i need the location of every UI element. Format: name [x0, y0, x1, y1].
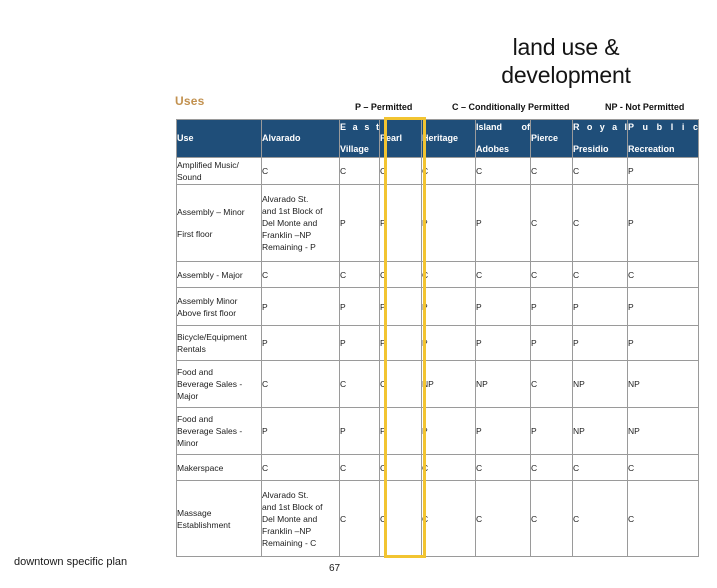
cell-island-of-adobes: C: [476, 158, 531, 185]
page-number: 67: [329, 563, 340, 574]
cell-east-village: P: [340, 326, 380, 361]
table-row[interactable]: Amplified Music/ Sound C C C C C C C P: [177, 158, 699, 185]
column-header-heritage[interactable]: Heritage: [422, 120, 476, 158]
page-title-line-2: development: [430, 61, 702, 89]
cell-heritage: C: [422, 481, 476, 557]
column-header-east-village[interactable]: E a s t Village: [340, 120, 380, 158]
page-title-line-1: land use &: [430, 33, 702, 61]
page-title: land use & development: [430, 33, 702, 89]
cell-use: Assembly - Major: [177, 262, 262, 288]
cell-pierce: C: [531, 262, 573, 288]
column-header-pearl-label: Pearl: [380, 133, 402, 143]
cell-use-line-3: Major: [177, 390, 261, 402]
uses-table-container: Use Alvarado E a s t Village Pearl Herit…: [176, 119, 698, 557]
cell-heritage: C: [422, 455, 476, 481]
column-header-island-of-adobes[interactable]: Island of Adobes: [476, 120, 531, 158]
cell-use-line-1: Assembly – Minor: [177, 206, 261, 218]
column-header-public-recreation-line-2: Recreation: [628, 144, 675, 154]
cell-alvarado: Alvarado St. and 1st Block of Del Monte …: [262, 185, 340, 262]
cell-use: Food and Beverage Sales - Minor: [177, 408, 262, 455]
cell-east-village: C: [340, 455, 380, 481]
cell-pierce: C: [531, 185, 573, 262]
cell-royal-presidio: C: [573, 185, 628, 262]
legend-item-permitted: P – Permitted: [355, 102, 412, 112]
cell-heritage: P: [422, 326, 476, 361]
cell-east-village: P: [340, 288, 380, 326]
cell-use: Bicycle/Equipment Rentals: [177, 326, 262, 361]
cell-pearl: C: [380, 262, 422, 288]
cell-royal-presidio: C: [573, 455, 628, 481]
cell-alvarado-line-1: Alvarado St.: [262, 489, 339, 501]
cell-use-line-3: Minor: [177, 437, 261, 449]
cell-alvarado-line-2: and 1st Block of: [262, 501, 339, 513]
cell-alvarado-line-4: Franklin –NP: [262, 229, 339, 241]
cell-use-line-2: Beverage Sales -: [177, 378, 261, 390]
cell-east-village: C: [340, 481, 380, 557]
cell-use-line-1: Food and: [177, 413, 261, 425]
column-header-royal-presidio[interactable]: R o y a l Presidio: [573, 120, 628, 158]
cell-heritage: P: [422, 408, 476, 455]
cell-alvarado-line-3: Del Monte and: [262, 513, 339, 525]
cell-public-recreation: NP: [628, 408, 699, 455]
cell-island-of-adobes: P: [476, 326, 531, 361]
column-header-island-of-adobes-line-1: Island of: [476, 122, 530, 144]
cell-use-line-2: First floor: [177, 228, 261, 240]
cell-royal-presidio: P: [573, 288, 628, 326]
table-row[interactable]: Food and Beverage Sales - Major C C C NP…: [177, 361, 699, 408]
cell-east-village: P: [340, 408, 380, 455]
cell-pierce: P: [531, 408, 573, 455]
footer-label: downtown specific plan: [14, 556, 127, 568]
column-header-public-recreation[interactable]: P u b l i c Recreation: [628, 120, 699, 158]
table-row[interactable]: Massage Establishment Alvarado St. and 1…: [177, 481, 699, 557]
cell-use-line-1: Food and: [177, 366, 261, 378]
cell-use-line-1: Assembly - Major: [177, 269, 261, 281]
cell-island-of-adobes: P: [476, 408, 531, 455]
cell-public-recreation: P: [628, 288, 699, 326]
cell-alvarado-line-1: Alvarado St.: [262, 193, 339, 205]
column-header-royal-presidio-line-2: Presidio: [573, 144, 609, 154]
cell-public-recreation: C: [628, 262, 699, 288]
table-row[interactable]: Assembly Minor Above first floor P P P P…: [177, 288, 699, 326]
cell-royal-presidio: NP: [573, 408, 628, 455]
cell-pierce: C: [531, 455, 573, 481]
cell-pierce: P: [531, 288, 573, 326]
column-header-use[interactable]: Use: [177, 120, 262, 158]
cell-royal-presidio: NP: [573, 361, 628, 408]
cell-pearl: P: [380, 185, 422, 262]
cell-use: Food and Beverage Sales - Major: [177, 361, 262, 408]
cell-pearl: C: [380, 361, 422, 408]
cell-island-of-adobes: C: [476, 455, 531, 481]
cell-alvarado: C: [262, 361, 340, 408]
cell-island-of-adobes: C: [476, 262, 531, 288]
cell-alvarado: C: [262, 455, 340, 481]
column-header-pierce-label: Pierce: [531, 133, 558, 143]
column-header-alvarado-label: Alvarado: [262, 133, 301, 143]
cell-heritage: NP: [422, 361, 476, 408]
cell-pierce: C: [531, 158, 573, 185]
legend-item-not-permitted: NP - Not Permitted: [605, 102, 684, 112]
cell-island-of-adobes: C: [476, 481, 531, 557]
cell-royal-presidio: C: [573, 262, 628, 288]
cell-heritage: P: [422, 185, 476, 262]
cell-public-recreation: C: [628, 481, 699, 557]
cell-alvarado-line-5: Remaining - C: [262, 537, 339, 549]
cell-use: Assembly – Minor First floor: [177, 185, 262, 262]
cell-pearl: C: [380, 455, 422, 481]
cell-alvarado: C: [262, 262, 340, 288]
cell-use-line-1: Bicycle/Equipment: [177, 331, 261, 343]
cell-pearl: C: [380, 481, 422, 557]
cell-heritage: P: [422, 288, 476, 326]
cell-pierce: P: [531, 326, 573, 361]
cell-use-line-1: Assembly Minor: [177, 295, 261, 307]
cell-heritage: C: [422, 158, 476, 185]
column-header-alvarado[interactable]: Alvarado: [262, 120, 340, 158]
cell-use: Massage Establishment: [177, 481, 262, 557]
cell-pierce: C: [531, 481, 573, 557]
column-header-public-recreation-line-1: P u b l i c: [628, 122, 698, 144]
cell-island-of-adobes: P: [476, 288, 531, 326]
cell-use-spacer: [177, 218, 261, 228]
cell-use-line-2: Establishment: [177, 519, 261, 531]
cell-royal-presidio: C: [573, 481, 628, 557]
legend: P – Permitted C – Conditionally Permitte…: [355, 102, 700, 116]
cell-alvarado: P: [262, 408, 340, 455]
cell-public-recreation: P: [628, 158, 699, 185]
cell-alvarado: C: [262, 158, 340, 185]
cell-use-line-1: Makerspace: [177, 462, 261, 474]
cell-public-recreation: NP: [628, 361, 699, 408]
cell-east-village: C: [340, 262, 380, 288]
cell-pearl: P: [380, 408, 422, 455]
cell-public-recreation: P: [628, 185, 699, 262]
column-header-heritage-label: Heritage: [422, 133, 458, 143]
cell-alvarado-line-2: and 1st Block of: [262, 205, 339, 217]
table-row[interactable]: Assembly - Major C C C C C C C C: [177, 262, 699, 288]
section-label-uses: Uses: [175, 94, 205, 108]
cell-alvarado: Alvarado St. and 1st Block of Del Monte …: [262, 481, 340, 557]
uses-table: Use Alvarado E a s t Village Pearl Herit…: [176, 119, 699, 557]
cell-use-line-2: Above first floor: [177, 307, 261, 319]
cell-use-line-1: Massage: [177, 507, 261, 519]
cell-use-line-2: Rentals: [177, 343, 261, 355]
cell-pearl: P: [380, 288, 422, 326]
cell-island-of-adobes: P: [476, 185, 531, 262]
legend-item-conditional: C – Conditionally Permitted: [452, 102, 570, 112]
cell-east-village: C: [340, 361, 380, 408]
column-header-east-village-line-1: E a s t: [340, 122, 379, 144]
cell-public-recreation: P: [628, 326, 699, 361]
table-header-row: Use Alvarado E a s t Village Pearl Herit…: [177, 120, 699, 158]
cell-use: Amplified Music/ Sound: [177, 158, 262, 185]
cell-alvarado: P: [262, 288, 340, 326]
cell-alvarado-line-3: Del Monte and: [262, 217, 339, 229]
cell-use-line-1: Amplified Music/: [177, 159, 261, 171]
cell-pearl: P: [380, 326, 422, 361]
column-header-island-of-adobes-line-2: Adobes: [476, 144, 509, 154]
cell-east-village: P: [340, 185, 380, 262]
table-row[interactable]: Food and Beverage Sales - Minor P P P P …: [177, 408, 699, 455]
cell-pierce: C: [531, 361, 573, 408]
cell-pearl: C: [380, 158, 422, 185]
cell-use: Makerspace: [177, 455, 262, 481]
cell-alvarado-line-4: Franklin –NP: [262, 525, 339, 537]
table-row[interactable]: Assembly – Minor First floor Alvarado St…: [177, 185, 699, 262]
cell-east-village: C: [340, 158, 380, 185]
cell-use-line-2: Beverage Sales -: [177, 425, 261, 437]
cell-royal-presidio: P: [573, 326, 628, 361]
cell-royal-presidio: C: [573, 158, 628, 185]
cell-alvarado: P: [262, 326, 340, 361]
table-row[interactable]: Bicycle/Equipment Rentals P P P P P P P …: [177, 326, 699, 361]
cell-island-of-adobes: NP: [476, 361, 531, 408]
column-header-royal-presidio-line-1: R o y a l: [573, 122, 627, 144]
table-row[interactable]: Makerspace C C C C C C C C: [177, 455, 699, 481]
cell-use-line-2: Sound: [177, 171, 261, 183]
cell-alvarado-line-5: Remaining - P: [262, 241, 339, 253]
cell-use: Assembly Minor Above first floor: [177, 288, 262, 326]
column-header-pearl[interactable]: Pearl: [380, 120, 422, 158]
cell-public-recreation: C: [628, 455, 699, 481]
column-header-use-label: Use: [177, 133, 194, 143]
column-header-east-village-line-2: Village: [340, 144, 369, 154]
cell-heritage: C: [422, 262, 476, 288]
column-header-pierce[interactable]: Pierce: [531, 120, 573, 158]
